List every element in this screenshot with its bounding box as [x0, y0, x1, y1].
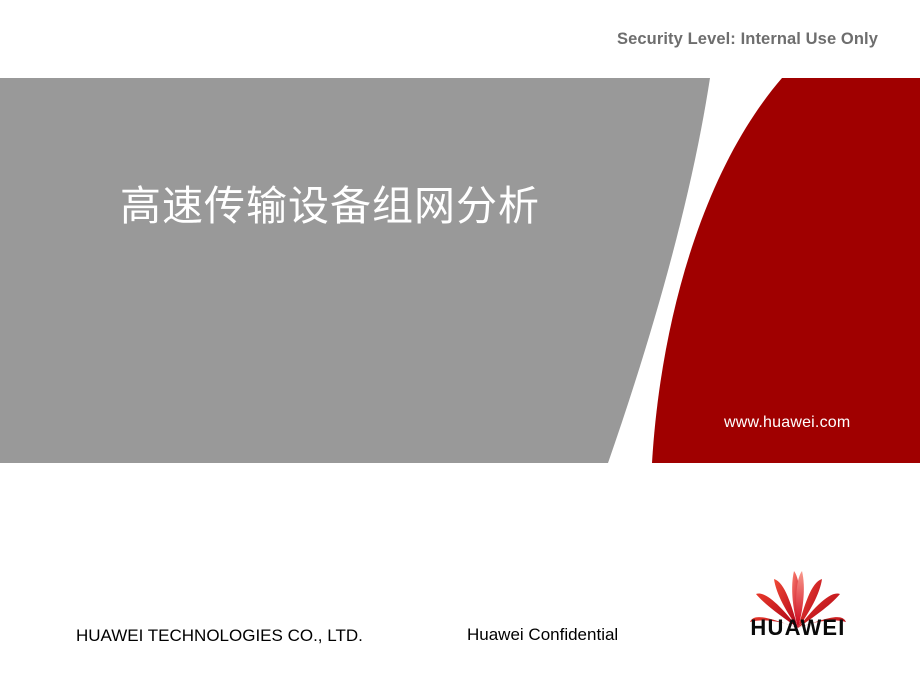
security-level-label: Security Level: Internal Use Only [617, 30, 878, 49]
footer-company-name: HUAWEI TECHNOLOGIES CO., LTD. [76, 626, 363, 646]
gray-band-shape [0, 78, 710, 463]
page-title: 高速传输设备组网分析 [120, 183, 540, 230]
footer-confidentiality-note: Huawei Confidential [467, 625, 618, 645]
website-url: www.huawei.com [724, 414, 850, 432]
huawei-wordmark: HUAWEI [743, 615, 853, 641]
huawei-logo: HUAWEI [743, 552, 853, 650]
slide-canvas: Security Level: Internal Use Only 高速传输设备… [0, 0, 920, 690]
title-banner [0, 78, 920, 463]
